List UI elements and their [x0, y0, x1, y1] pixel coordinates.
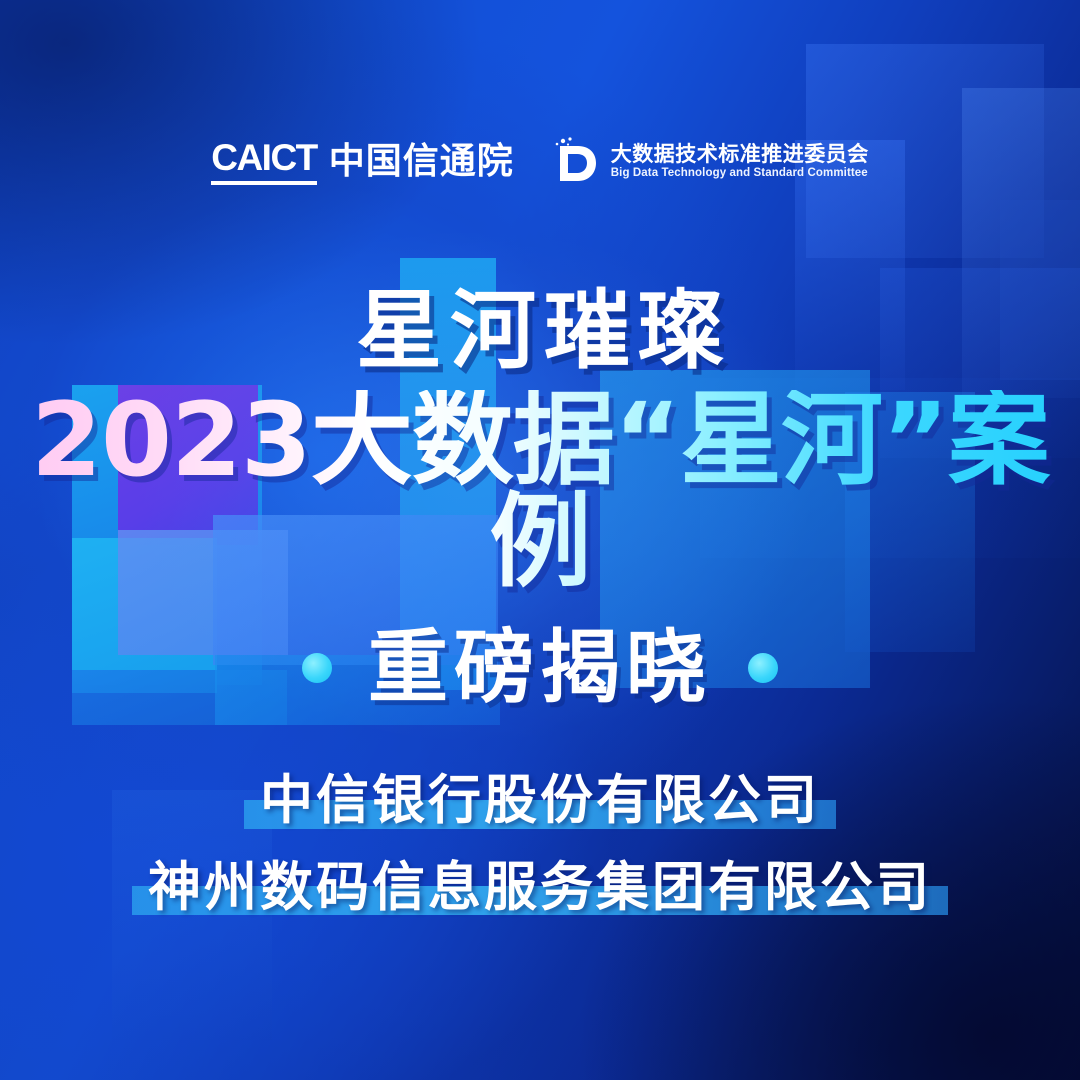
winner-item: 神州数码信息服务集团有限公司 — [148, 857, 932, 920]
committee-chinese-name: 大数据技术标准推进委员会 — [611, 144, 869, 165]
caict-underline — [211, 181, 317, 185]
committee-english-name: Big Data Technology and Standard Committ… — [611, 168, 869, 180]
cyan-dot-icon-right — [748, 653, 778, 683]
big-data-d-logo-icon — [554, 136, 598, 188]
cyan-dot-icon-left — [302, 653, 332, 683]
headline-block: 星河璀璨 2023大数据“星河”案例 重磅揭晓 — [0, 288, 1080, 708]
caict-wordmark: CAICT — [211, 139, 317, 176]
logo-row: CAICT 中国信通院 大数据技术标准推进委员会 Big Data Techno… — [0, 136, 1080, 188]
winner-name: 神州数码信息服务集团有限公司 — [148, 857, 932, 918]
caict-chinese-name: 中国信通院 — [329, 144, 514, 180]
headline-line-3: 重磅揭晓 — [368, 628, 712, 708]
headline-line-2: 2023大数据“星河”案例 — [0, 390, 1080, 594]
headline-line-3-row: 重磅揭晓 — [0, 628, 1080, 708]
headline-line-1: 星河璀璨 — [0, 288, 1080, 374]
caict-logo-icon: CAICT — [211, 139, 317, 185]
winner-item: 中信银行股份有限公司 — [260, 770, 820, 833]
caict-logo: CAICT 中国信通院 — [211, 139, 514, 185]
winners-list: 中信银行股份有限公司 神州数码信息服务集团有限公司 — [0, 770, 1080, 943]
winner-name: 中信银行股份有限公司 — [260, 770, 820, 831]
committee-logo: 大数据技术标准推进委员会 Big Data Technology and Sta… — [554, 136, 869, 188]
poster-canvas: CAICT 中国信通院 大数据技术标准推进委员会 Big Data Techno… — [0, 0, 1080, 1080]
committee-text: 大数据技术标准推进委员会 Big Data Technology and Sta… — [611, 144, 869, 180]
